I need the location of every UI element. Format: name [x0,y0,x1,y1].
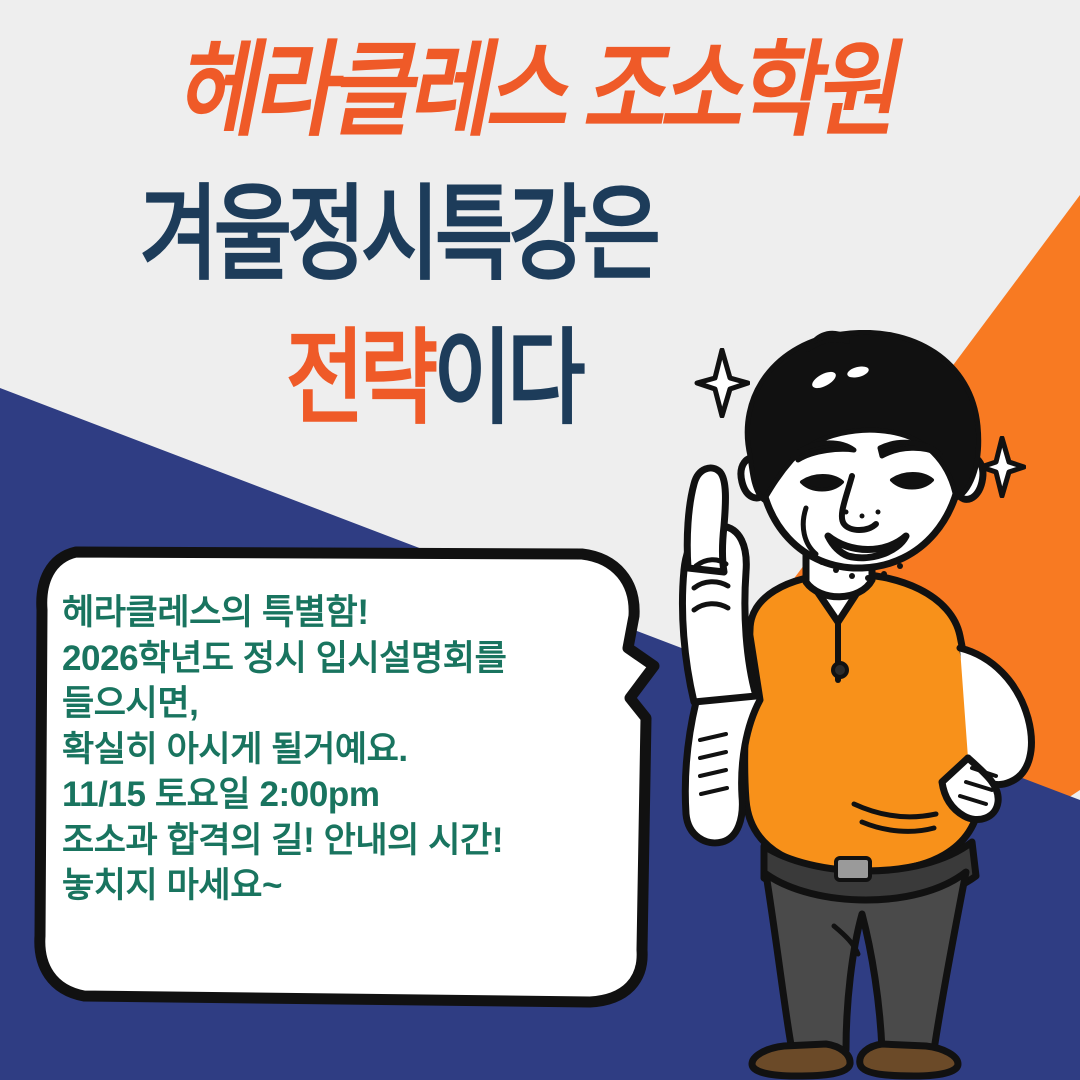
right-eye [892,474,932,488]
shirt-button [833,663,847,677]
pointing-index-finger [687,468,725,572]
pants [766,872,966,1050]
shirt-body [745,574,981,872]
right-shoe [860,1044,958,1076]
belt-buckle [836,858,870,880]
left-eye [802,476,842,490]
cartoon-instructor-illustration [600,330,1080,1080]
poster-canvas: 헤라클레스 조소학원 겨울정시특강은 전략이다 [0,0,1080,1080]
left-shoe [752,1044,850,1076]
speech-bubble: 헤라클레스의 특별함! 2026학년도 정시 입시설명회를 들으시면, 확실히 … [30,538,670,1018]
speech-bubble-text: 헤라클레스의 특별함! 2026학년도 정시 입시설명회를 들으시면, 확실히 … [62,590,642,909]
cartoon-instructor-figure [600,330,1080,1080]
